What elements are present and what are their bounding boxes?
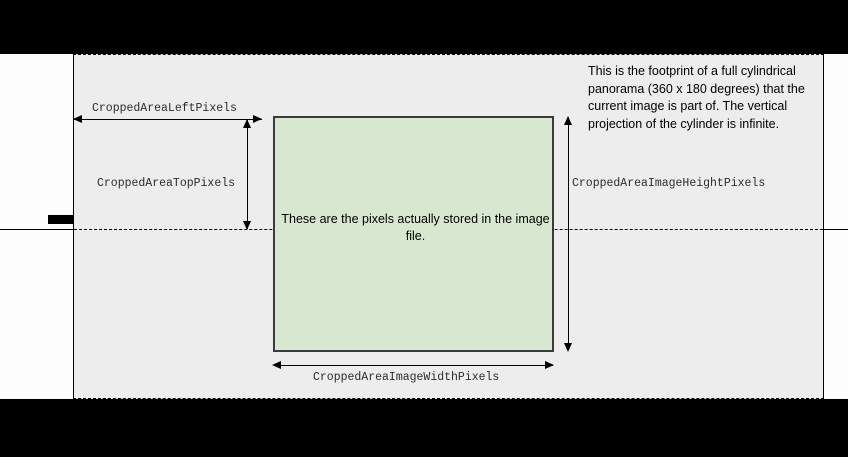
arrow-cropped-area-left-pixels [74,119,262,120]
arrow-cropped-area-image-height-pixels [568,117,569,350]
diagram-canvas: These are the pixels actually stored in … [0,0,848,457]
label-cropped-area-top-pixels: CroppedAreaTopPixels [97,177,235,190]
arrowhead-left-pixels-start-icon [73,115,82,123]
cropped-image-rectangle: These are the pixels actually stored in … [273,116,554,352]
arrowhead-image-width-start-icon [272,361,281,369]
label-cropped-area-left-pixels: CroppedAreaLeftPixels [92,102,237,115]
horizon-line-left [0,229,74,230]
panorama-description-text: This is the footprint of a full cylindri… [588,63,833,133]
arrowhead-top-pixels-start-icon [243,119,251,128]
letterbox-band-bottom [0,399,848,457]
arrowhead-left-pixels-end-icon [253,115,262,123]
arrowhead-image-height-end-icon [564,343,572,352]
arrow-cropped-area-top-pixels [247,120,248,229]
label-cropped-area-image-height-pixels: CroppedAreaImageHeightPixels [572,177,765,190]
cropped-image-caption: These are the pixels actually stored in … [275,211,556,245]
arrow-cropped-area-image-width-pixels [274,365,553,366]
arrowhead-image-width-end-icon [545,361,554,369]
arrowhead-image-height-start-icon [564,116,572,125]
arrowhead-top-pixels-end-icon [243,221,251,230]
panorama-left-edge-line [73,54,74,399]
letterbox-band-top [0,0,848,54]
horizon-line-right [823,229,848,230]
label-cropped-area-image-width-pixels: CroppedAreaImageWidthPixels [313,371,499,384]
horizon-marker-icon [48,215,74,224]
